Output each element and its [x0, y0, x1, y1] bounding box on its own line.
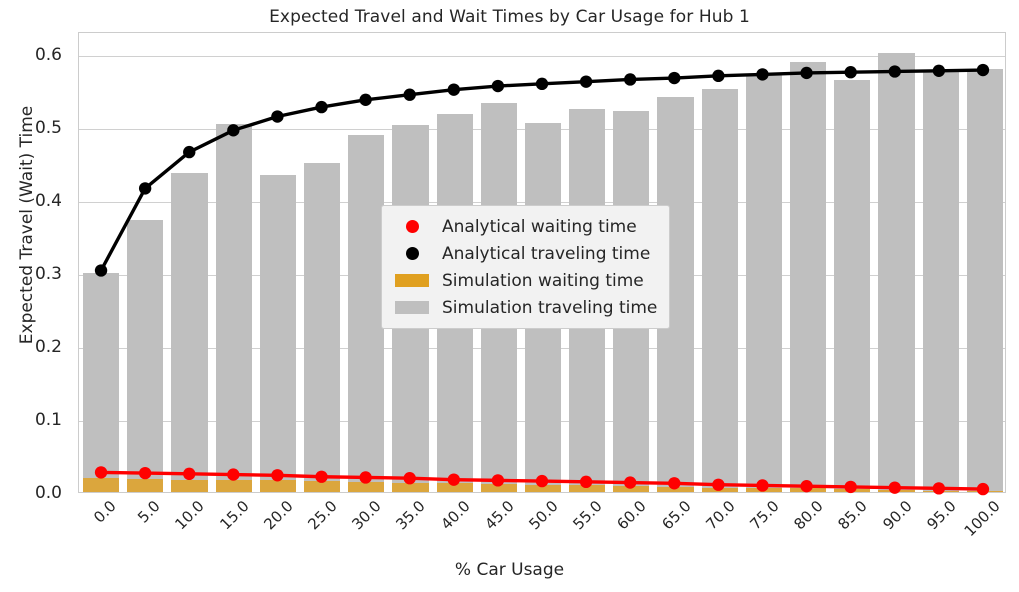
marker-analytical-traveling-time — [712, 70, 724, 82]
marker-analytical-traveling-time — [977, 64, 989, 76]
marker-analytical-waiting-time — [183, 468, 195, 480]
marker-analytical-waiting-time — [139, 467, 151, 479]
marker-analytical-traveling-time — [536, 78, 548, 90]
marker-analytical-waiting-time — [227, 468, 239, 480]
x-tick-label: 0.0 — [90, 497, 120, 527]
x-tick-label: 30.0 — [349, 497, 385, 533]
legend-swatch — [391, 301, 433, 314]
x-axis-ticks: 0.05.010.015.020.025.030.035.040.045.050… — [78, 497, 1006, 552]
legend-label: Simulation waiting time — [442, 271, 644, 291]
marker-analytical-traveling-time — [359, 94, 371, 106]
x-tick-label: 15.0 — [216, 497, 252, 533]
legend-label: Analytical waiting time — [442, 217, 637, 237]
legend-marker-patch-icon — [395, 274, 429, 287]
marker-analytical-traveling-time — [448, 83, 460, 95]
legend-item: Analytical waiting time — [391, 213, 657, 240]
marker-analytical-waiting-time — [404, 472, 416, 484]
marker-analytical-traveling-time — [624, 73, 636, 85]
marker-analytical-traveling-time — [756, 68, 768, 80]
legend-label: Simulation traveling time — [442, 298, 657, 318]
y-tick-label: 0.4 — [35, 191, 62, 211]
chart-figure: Expected Travel and Wait Times by Car Us… — [0, 0, 1019, 592]
marker-analytical-waiting-time — [580, 476, 592, 488]
marker-analytical-traveling-time — [889, 65, 901, 77]
legend-item: Simulation traveling time — [391, 294, 657, 321]
legend-label: Analytical traveling time — [442, 244, 650, 264]
marker-analytical-traveling-time — [139, 182, 151, 194]
legend-swatch — [391, 220, 433, 233]
marker-analytical-traveling-time — [183, 146, 195, 158]
marker-analytical-waiting-time — [668, 477, 680, 489]
x-tick-label: 80.0 — [791, 497, 827, 533]
marker-analytical-waiting-time — [492, 474, 504, 486]
x-tick-label: 60.0 — [614, 497, 650, 533]
marker-analytical-traveling-time — [227, 124, 239, 136]
marker-analytical-waiting-time — [448, 473, 460, 485]
x-tick-label: 35.0 — [393, 497, 429, 533]
y-tick-label: 0.6 — [35, 45, 62, 65]
x-tick-label: 90.0 — [879, 497, 915, 533]
marker-analytical-waiting-time — [95, 466, 107, 478]
y-tick-label: 0.5 — [35, 118, 62, 138]
marker-analytical-traveling-time — [580, 75, 592, 87]
marker-analytical-waiting-time — [271, 469, 283, 481]
x-axis-label: % Car Usage — [0, 560, 1019, 580]
x-tick-label: 75.0 — [746, 497, 782, 533]
marker-analytical-waiting-time — [756, 479, 768, 491]
chart-title: Expected Travel and Wait Times by Car Us… — [0, 7, 1019, 27]
marker-analytical-waiting-time — [359, 471, 371, 483]
x-tick-label: 85.0 — [835, 497, 871, 533]
marker-analytical-waiting-time — [889, 481, 901, 493]
x-tick-label: 20.0 — [260, 497, 296, 533]
marker-analytical-waiting-time — [977, 483, 989, 495]
x-tick-label: 100.0 — [961, 497, 1004, 540]
x-tick-label: 40.0 — [437, 497, 473, 533]
marker-analytical-traveling-time — [933, 65, 945, 77]
x-tick-label: 5.0 — [134, 497, 164, 527]
marker-analytical-traveling-time — [844, 66, 856, 78]
x-tick-label: 95.0 — [923, 497, 959, 533]
x-tick-label: 70.0 — [702, 497, 738, 533]
chart-legend: Analytical waiting timeAnalytical travel… — [381, 205, 670, 329]
marker-analytical-traveling-time — [668, 72, 680, 84]
legend-item: Simulation waiting time — [391, 267, 657, 294]
marker-analytical-waiting-time — [844, 481, 856, 493]
y-tick-label: 0.2 — [35, 337, 62, 357]
marker-analytical-traveling-time — [492, 80, 504, 92]
marker-analytical-traveling-time — [271, 110, 283, 122]
x-tick-label: 65.0 — [658, 497, 694, 533]
y-tick-label: 0.0 — [35, 483, 62, 503]
x-tick-label: 10.0 — [172, 497, 208, 533]
y-tick-label: 0.3 — [35, 264, 62, 284]
marker-analytical-waiting-time — [315, 471, 327, 483]
marker-analytical-waiting-time — [624, 476, 636, 488]
y-tick-label: 0.1 — [35, 410, 62, 430]
x-tick-label: 45.0 — [481, 497, 517, 533]
legend-swatch — [391, 274, 433, 287]
marker-analytical-waiting-time — [800, 480, 812, 492]
legend-marker-patch-icon — [395, 301, 429, 314]
y-axis-label: Expected Travel (Wait) Time — [17, 10, 37, 440]
marker-analytical-traveling-time — [315, 101, 327, 113]
x-tick-label: 50.0 — [525, 497, 561, 533]
legend-marker-dot-icon — [406, 247, 419, 260]
marker-analytical-waiting-time — [536, 475, 548, 487]
marker-analytical-traveling-time — [800, 67, 812, 79]
marker-analytical-traveling-time — [404, 89, 416, 101]
marker-analytical-waiting-time — [933, 482, 945, 494]
legend-swatch — [391, 247, 433, 260]
x-tick-label: 25.0 — [304, 497, 340, 533]
legend-marker-dot-icon — [406, 220, 419, 233]
marker-analytical-traveling-time — [95, 264, 107, 276]
marker-analytical-waiting-time — [712, 479, 724, 491]
x-tick-label: 55.0 — [570, 497, 606, 533]
legend-item: Analytical traveling time — [391, 240, 657, 267]
